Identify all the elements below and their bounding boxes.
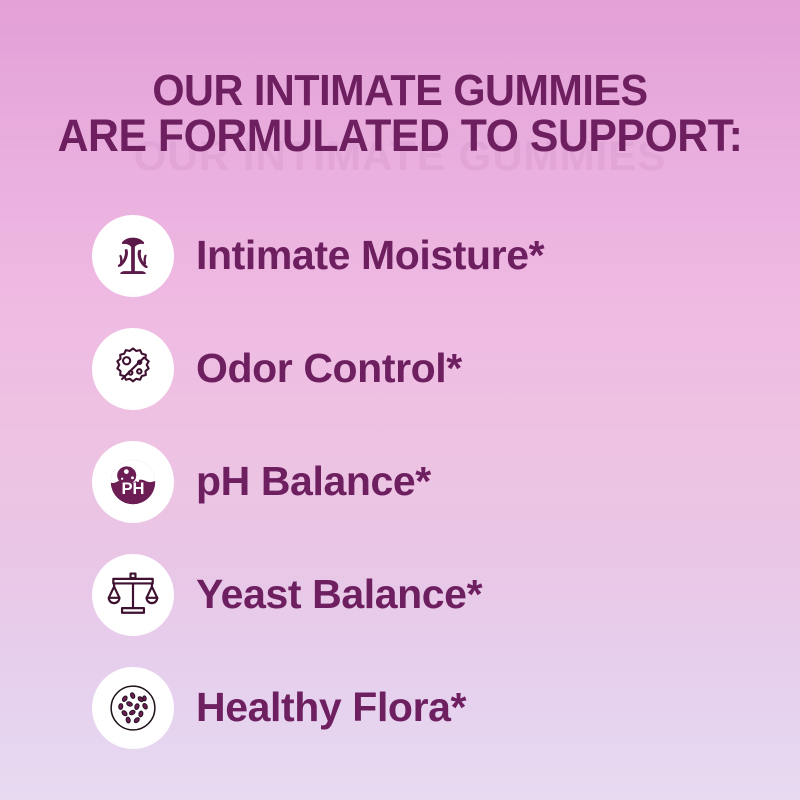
- promotional-poster: OUR INTIMATE GUMMIES OUR INTIMATE GUMMIE…: [0, 0, 800, 800]
- fountain-icon: [92, 215, 174, 297]
- benefit-label: Yeast Balance*: [196, 574, 482, 615]
- odor-molecule-icon: [92, 328, 174, 410]
- list-item: Intimate Moisture*: [0, 199, 800, 312]
- benefit-label: Intimate Moisture*: [196, 235, 544, 276]
- list-item: Healthy Flora*: [0, 651, 800, 764]
- ph-icon-text: PH: [121, 478, 144, 497]
- headline-line-1: OUR INTIMATE GUMMIES: [24, 69, 776, 113]
- benefit-label: Healthy Flora*: [196, 687, 466, 728]
- list-item: Yeast Balance*: [0, 538, 800, 651]
- petri-dish-flora-icon: [92, 667, 174, 749]
- balance-scale-icon: [92, 554, 174, 636]
- list-item: Odor Control*: [0, 312, 800, 425]
- ph-droplet-icon: PH: [92, 441, 174, 523]
- benefit-label: Odor Control*: [196, 348, 462, 389]
- benefit-label: pH Balance*: [196, 461, 431, 502]
- headline-line-2: ARE FORMULATED TO SUPPORT:: [24, 113, 776, 159]
- list-item: PH pH Balance*: [0, 425, 800, 538]
- page-title: OUR INTIMATE GUMMIES ARE FORMULATED TO S…: [24, 69, 776, 159]
- benefit-list: Intimate Moisture* Odor Control*: [0, 199, 800, 764]
